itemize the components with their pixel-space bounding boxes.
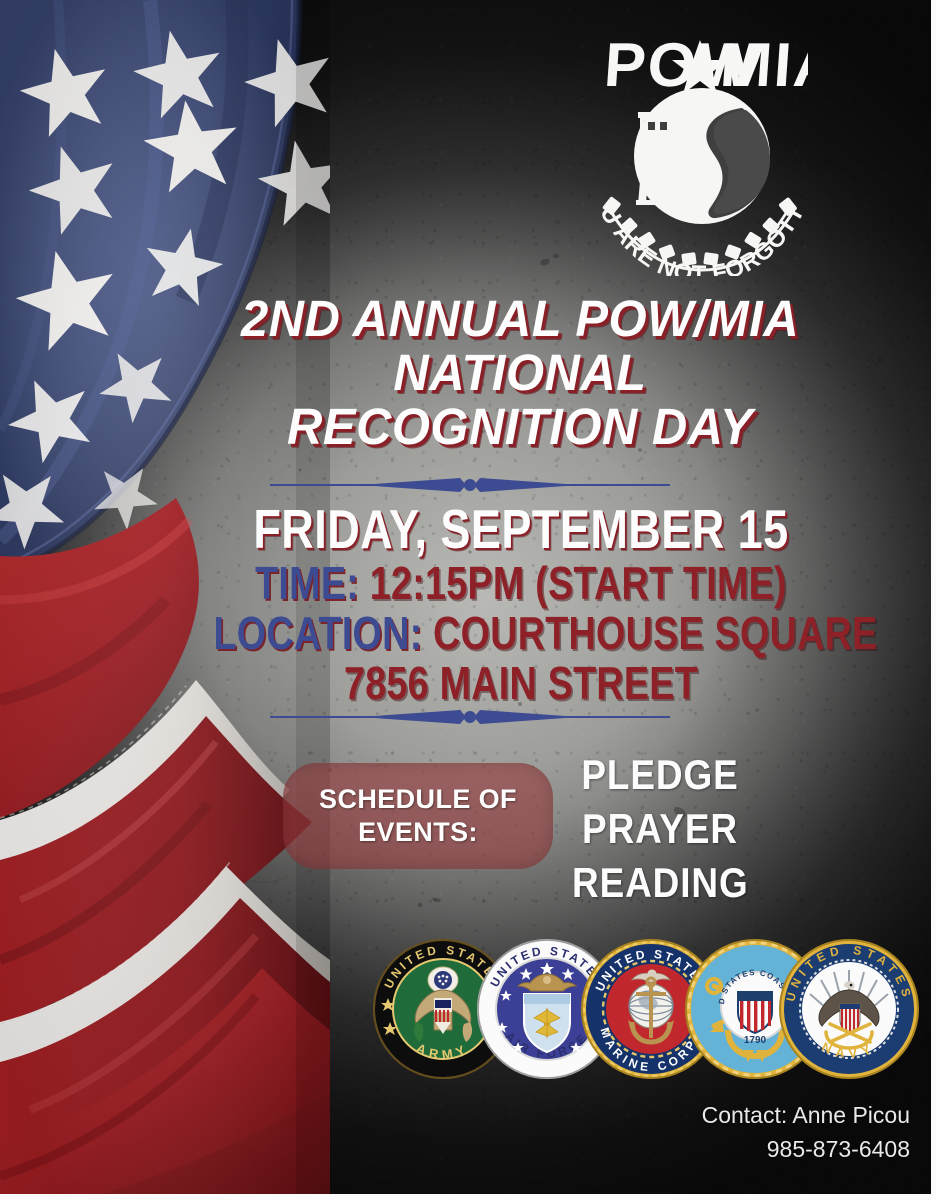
- event-location-row: LOCATION: COURTHOUSE SQUARE: [214, 608, 829, 658]
- poster-canvas: POW MIA: [0, 0, 936, 1200]
- contact-phone: 985-873-6408: [470, 1132, 910, 1166]
- coast-guard-year: 1790: [744, 1035, 767, 1046]
- contact-info: Contact: Anne Picou 985-873-6408: [470, 1098, 910, 1166]
- location-value: COURTHOUSE SQUARE: [433, 607, 877, 659]
- time-label: TIME:: [255, 557, 359, 609]
- pow-mia-emblem: POW MIA: [592, 14, 808, 276]
- event-date: FRIDAY, SEPTEMBER 15: [214, 500, 829, 558]
- event-item-reading: READING: [572, 856, 748, 910]
- emblem-mia-text: MIA: [718, 31, 808, 100]
- event-item-prayer: PRAYER: [572, 802, 748, 856]
- time-value: 12:15PM (START TIME): [370, 557, 787, 609]
- military-branch-seals: UNITED STATES ARMY: [372, 938, 888, 1080]
- event-item-pledge: PLEDGE: [572, 748, 748, 802]
- address-value: 7856 MAIN STREET: [344, 657, 698, 709]
- ornamental-divider-bottom: [270, 706, 670, 728]
- title-line-1: 2ND ANNUAL POW/MIA: [165, 292, 875, 346]
- contact-name: Contact: Anne Picou: [470, 1098, 910, 1132]
- schedule-line-2: EVENTS:: [358, 817, 478, 847]
- location-label: LOCATION:: [214, 607, 423, 659]
- navy-seal: UNITED STATES NAVY: [778, 938, 920, 1080]
- event-address-row: 7856 MAIN STREET: [214, 658, 829, 708]
- schedule-of-events-badge: SCHEDULE OF EVENTS:: [283, 763, 553, 869]
- poster-title: 2ND ANNUAL POW/MIA NATIONAL RECOGNITION …: [165, 292, 875, 454]
- events-list: PLEDGE PRAYER READING: [560, 748, 760, 910]
- ornamental-divider-top: [270, 474, 670, 496]
- schedule-line-1: SCHEDULE OF: [319, 784, 517, 814]
- title-line-2: NATIONAL: [165, 346, 875, 400]
- schedule-badge-text: SCHEDULE OF EVENTS:: [319, 783, 517, 849]
- title-line-3: RECOGNITION DAY: [165, 400, 875, 454]
- event-time-row: TIME: 12:15PM (START TIME): [214, 558, 829, 608]
- emblem-circle: [634, 88, 770, 224]
- event-details: FRIDAY, SEPTEMBER 15 TIME: 12:15PM (STAR…: [146, 500, 896, 708]
